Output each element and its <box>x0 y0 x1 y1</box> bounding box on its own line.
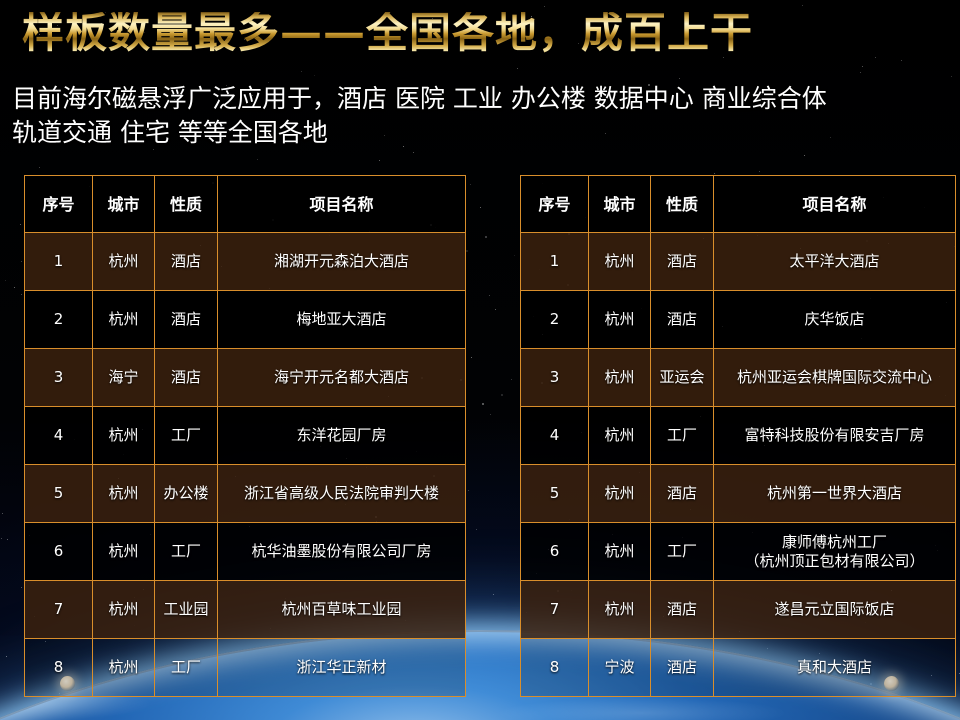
star <box>7 539 8 540</box>
cell-type: 工厂 <box>155 639 218 697</box>
cell-city: 杭州 <box>93 407 155 465</box>
project-table-left: 序号 城市 性质 项目名称 1杭州酒店湘湖开元森泊大酒店2杭州酒店梅地亚大酒店3… <box>24 175 466 697</box>
cell-index: 3 <box>25 349 93 407</box>
cell-index: 6 <box>521 523 589 581</box>
cell-index: 2 <box>521 291 589 349</box>
star <box>14 287 15 288</box>
star <box>723 57 724 58</box>
star <box>468 490 469 491</box>
cell-city: 杭州 <box>93 465 155 523</box>
cell-index: 2 <box>25 291 93 349</box>
star <box>482 403 484 405</box>
cell-type: 酒店 <box>155 349 218 407</box>
table-row[interactable]: 3杭州亚运会杭州亚运会棋牌国际交流中心 <box>521 349 956 407</box>
cell-project: 梅地亚大酒店 <box>218 291 466 349</box>
cell-type: 工厂 <box>651 523 714 581</box>
cell-project: 真和大酒店 <box>714 639 956 697</box>
table-header-row: 序号 城市 性质 项目名称 <box>521 176 956 233</box>
star <box>511 379 512 380</box>
cell-project: 富特科技股份有限安吉厂房 <box>714 407 956 465</box>
title-block: 样板数量最多——全国各地，成百上干 <box>22 12 753 54</box>
star <box>951 76 952 77</box>
star <box>470 184 471 185</box>
cell-type: 工厂 <box>651 407 714 465</box>
cell-project: 杭华油墨股份有限公司厂房 <box>218 523 466 581</box>
star <box>804 155 805 156</box>
star <box>301 71 302 72</box>
star <box>471 357 472 358</box>
table-row[interactable]: 5杭州酒店杭州第一世界大酒店 <box>521 465 956 523</box>
cell-type: 办公楼 <box>155 465 218 523</box>
cell-index: 1 <box>521 233 589 291</box>
star <box>1 538 2 539</box>
star <box>759 171 760 172</box>
star <box>862 66 863 67</box>
cell-city: 宁波 <box>589 639 651 697</box>
star <box>517 68 518 69</box>
cell-city: 杭州 <box>93 581 155 639</box>
star <box>379 160 380 161</box>
cell-city: 海宁 <box>93 349 155 407</box>
cell-index: 4 <box>521 407 589 465</box>
cell-type: 酒店 <box>651 233 714 291</box>
cell-project: 海宁开元名都大酒店 <box>218 349 466 407</box>
cell-project: 康师傅杭州工厂 （杭州顶正包材有限公司） <box>714 523 956 581</box>
cell-type: 酒店 <box>651 581 714 639</box>
cell-type: 工厂 <box>155 523 218 581</box>
star <box>2 513 3 514</box>
col-header-index: 序号 <box>25 176 93 233</box>
cell-city: 杭州 <box>93 639 155 697</box>
star <box>490 414 491 415</box>
table-row[interactable]: 2杭州酒店庆华饭店 <box>521 291 956 349</box>
cell-index: 5 <box>521 465 589 523</box>
star <box>413 152 414 153</box>
cell-type: 工厂 <box>155 407 218 465</box>
star <box>466 250 468 252</box>
cell-index: 3 <box>521 349 589 407</box>
cell-index: 6 <box>25 523 93 581</box>
cell-project: 湘湖开元森泊大酒店 <box>218 233 466 291</box>
cell-index: 7 <box>25 581 93 639</box>
cell-type: 酒店 <box>155 291 218 349</box>
star <box>476 529 477 530</box>
star <box>21 587 22 588</box>
star <box>901 60 902 61</box>
col-header-type: 性质 <box>155 176 218 233</box>
slide-subtitle: 目前海尔磁悬浮广泛应用于，酒店 医院 工业 办公楼 数据中心 商业综合体 轨道交… <box>12 82 952 150</box>
star <box>679 78 680 79</box>
col-header-city: 城市 <box>93 176 155 233</box>
star <box>480 207 481 208</box>
col-header-type: 性质 <box>651 176 714 233</box>
table-row[interactable]: 1杭州酒店湘湖开元森泊大酒店 <box>25 233 466 291</box>
cell-project: 遂昌元立国际饭店 <box>714 581 956 639</box>
star <box>21 261 22 262</box>
star <box>314 75 315 76</box>
table-right-head: 序号 城市 性质 项目名称 <box>521 176 956 233</box>
star <box>501 394 503 396</box>
table-row[interactable]: 8宁波酒店真和大酒店 <box>521 639 956 697</box>
table-row[interactable]: 4杭州工厂东洋花园厂房 <box>25 407 466 465</box>
star <box>802 5 803 6</box>
star <box>5 280 6 281</box>
cell-city: 杭州 <box>589 291 651 349</box>
star <box>514 255 515 256</box>
table-left-head: 序号 城市 性质 项目名称 <box>25 176 466 233</box>
cell-type: 酒店 <box>651 465 714 523</box>
cell-project: 杭州亚运会棋牌国际交流中心 <box>714 349 956 407</box>
cell-project: 浙江华正新材 <box>218 639 466 697</box>
cell-index: 1 <box>25 233 93 291</box>
table-row[interactable]: 4杭州工厂富特科技股份有限安吉厂房 <box>521 407 956 465</box>
col-header-index: 序号 <box>521 176 589 233</box>
cell-project: 杭州第一世界大酒店 <box>714 465 956 523</box>
star <box>860 72 861 73</box>
cell-index: 5 <box>25 465 93 523</box>
col-header-city: 城市 <box>589 176 651 233</box>
project-table-right: 序号 城市 性质 项目名称 1杭州酒店太平洋大酒店2杭州酒店庆华饭店3杭州亚运会… <box>520 175 956 697</box>
cell-type: 亚运会 <box>651 349 714 407</box>
cell-project: 太平洋大酒店 <box>714 233 956 291</box>
cell-project: 东洋花园厂房 <box>218 407 466 465</box>
cell-city: 杭州 <box>589 233 651 291</box>
cell-type: 酒店 <box>651 639 714 697</box>
cell-type: 酒店 <box>155 233 218 291</box>
cell-city: 杭州 <box>93 523 155 581</box>
table-header-row: 序号 城市 性质 项目名称 <box>25 176 466 233</box>
table-row[interactable]: 6杭州工厂康师傅杭州工厂 （杭州顶正包材有限公司） <box>521 523 956 581</box>
cell-index: 8 <box>521 639 589 697</box>
star <box>39 167 40 168</box>
table-right-body: 1杭州酒店太平洋大酒店2杭州酒店庆华饭店3杭州亚运会杭州亚运会棋牌国际交流中心4… <box>521 233 956 697</box>
cell-index: 7 <box>521 581 589 639</box>
cell-type: 酒店 <box>651 291 714 349</box>
star <box>544 6 545 7</box>
star <box>495 309 496 310</box>
table-row[interactable]: 5杭州办公楼浙江省高级人民法院审判大楼 <box>25 465 466 523</box>
star <box>493 594 494 595</box>
star <box>20 224 21 225</box>
table-left-body: 1杭州酒店湘湖开元森泊大酒店2杭州酒店梅地亚大酒店3海宁酒店海宁开元名都大酒店4… <box>25 233 466 697</box>
cell-project: 浙江省高级人民法院审判大楼 <box>218 465 466 523</box>
cell-type: 工业园 <box>155 581 218 639</box>
cell-project: 庆华饭店 <box>714 291 956 349</box>
table-row[interactable]: 7杭州工业园杭州百草味工业园 <box>25 581 466 639</box>
cell-city: 杭州 <box>93 291 155 349</box>
cell-city: 杭州 <box>93 233 155 291</box>
star <box>485 236 487 238</box>
cell-city: 杭州 <box>589 581 651 639</box>
cell-index: 4 <box>25 407 93 465</box>
table-row[interactable]: 3海宁酒店海宁开元名都大酒店 <box>25 349 466 407</box>
table-row[interactable]: 2杭州酒店梅地亚大酒店 <box>25 291 466 349</box>
table-row[interactable]: 6杭州工厂杭华油墨股份有限公司厂房 <box>25 523 466 581</box>
cell-index: 8 <box>25 639 93 697</box>
cell-city: 杭州 <box>589 523 651 581</box>
star <box>257 159 258 160</box>
table-row[interactable]: 8杭州工厂浙江华正新材 <box>25 639 466 697</box>
cell-city: 杭州 <box>589 465 651 523</box>
col-header-project: 项目名称 <box>714 176 956 233</box>
cell-city: 杭州 <box>589 349 651 407</box>
col-header-project: 项目名称 <box>218 176 466 233</box>
star <box>489 295 490 296</box>
cell-project: 杭州百草味工业园 <box>218 581 466 639</box>
slide-title: 样板数量最多——全国各地，成百上干 <box>22 12 753 54</box>
star <box>875 57 876 58</box>
slide-canvas: 样板数量最多——全国各地，成百上干 目前海尔磁悬浮广泛应用于，酒店 医院 工业 … <box>0 0 960 720</box>
star <box>21 294 22 295</box>
cell-city: 杭州 <box>589 407 651 465</box>
star <box>714 173 715 174</box>
table-row[interactable]: 1杭州酒店太平洋大酒店 <box>521 233 956 291</box>
table-row[interactable]: 7杭州酒店遂昌元立国际饭店 <box>521 581 956 639</box>
